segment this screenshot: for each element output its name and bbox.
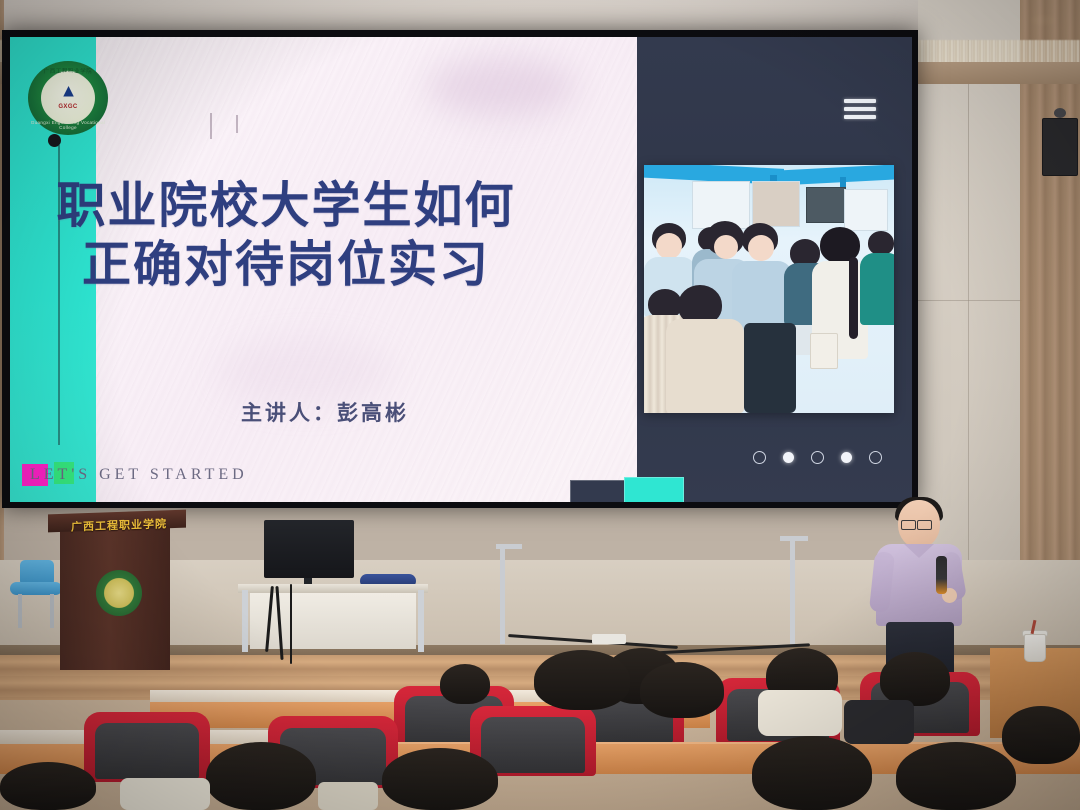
audience-person-front <box>896 742 1016 810</box>
quote-stroke-1 <box>210 113 212 139</box>
projection-screen-frame: 广西工程职业学院 ▲ GXGC Guangxi Engineering Voca… <box>2 30 918 508</box>
audience-clothing-4 <box>318 782 378 810</box>
person-hair <box>382 748 498 810</box>
mic-stand-top <box>496 544 522 549</box>
audience-clothing-2 <box>844 700 914 744</box>
logo-abbr: GXGC <box>28 104 108 110</box>
photo-board-3 <box>806 187 846 223</box>
photo-face-3 <box>714 235 738 259</box>
photo-body-9 <box>666 319 744 413</box>
speaker-knob <box>1054 108 1066 118</box>
person-hair <box>0 762 96 810</box>
audience-person-front <box>206 742 316 810</box>
lecture-hall-scene: 广西工程职业学院 ▲ GXGC Guangxi Engineering Voca… <box>0 0 1080 810</box>
person-hair <box>896 742 1016 810</box>
slide-title-line-1: 职业院校大学生如何 <box>16 177 556 236</box>
chair-leg-2 <box>50 594 54 628</box>
audience-clothing <box>758 690 842 736</box>
projected-slide: 广西工程职业学院 ▲ GXGC Guangxi Engineering Voca… <box>10 37 912 502</box>
glasses-right-lens-icon <box>917 520 932 530</box>
photo-face-4 <box>748 235 774 261</box>
slide-title-line-2: 正确对待岗位实习 <box>16 236 556 295</box>
person-hair <box>880 652 950 706</box>
wall-speaker <box>1042 118 1078 176</box>
floor-box <box>592 634 626 644</box>
stand-right-top <box>780 536 808 541</box>
photo-face-1 <box>656 233 682 259</box>
podium-emblem <box>96 570 142 616</box>
audience-person <box>880 652 950 706</box>
audience-person-front <box>640 662 724 718</box>
person-hair <box>534 650 630 710</box>
monitor <box>264 520 354 578</box>
carousel-dot-5[interactable] <box>869 451 882 464</box>
desk-modesty-panel <box>250 593 416 649</box>
college-logo: 广西工程职业学院 ▲ GXGC Guangxi Engineering Voca… <box>28 61 108 135</box>
desk-leg-2 <box>418 590 424 652</box>
seat-cushion <box>95 723 198 779</box>
photo-head-7 <box>868 231 894 255</box>
slide-footer-text: LET'S GET STARTED <box>30 466 248 484</box>
photo-braid <box>849 257 858 339</box>
carousel-dot-4[interactable] <box>841 452 852 463</box>
audience-seat <box>84 712 210 782</box>
audience-person-front <box>382 748 498 810</box>
photo-body-10 <box>744 323 796 413</box>
carousel-dot-1[interactable] <box>753 451 766 464</box>
person-hair <box>640 662 724 718</box>
slide-swatch-cyan <box>624 477 684 502</box>
slide-swatch-dark <box>570 480 632 502</box>
photo-body-7 <box>860 253 894 325</box>
carousel-dots[interactable] <box>753 451 882 464</box>
logo-name-en: Guangxi Engineering Vocational College <box>28 120 108 130</box>
person-hair <box>440 664 490 704</box>
logo-mark-icon: ▲ <box>60 80 77 101</box>
glasses-left-lens-icon <box>901 520 916 530</box>
slide-speaker-label: 主讲人：彭高彬 <box>160 397 490 427</box>
carousel-dot-2[interactable] <box>783 452 794 463</box>
microphone <box>936 556 947 594</box>
audience-clothing-3 <box>120 778 210 810</box>
audience-person-front <box>752 736 872 810</box>
band-dot-3 <box>48 134 61 147</box>
quote-stroke-2 <box>236 115 238 133</box>
person-hair <box>752 736 872 810</box>
slide-title: 职业院校大学生如何 正确对待岗位实习 <box>16 177 556 295</box>
photo-board-2 <box>752 181 800 227</box>
stand-right <box>790 540 795 644</box>
hamburger-icon[interactable] <box>844 99 876 119</box>
paper-blotch <box>426 57 576 117</box>
audience-person-front <box>0 762 96 810</box>
slide-photo <box>644 165 894 413</box>
photo-tote-bag <box>810 333 838 369</box>
cable-3 <box>290 584 292 664</box>
presenter-desk <box>238 556 428 660</box>
audience-person-front <box>534 650 630 710</box>
person-hair <box>206 742 316 810</box>
desk-leg-1 <box>242 590 248 652</box>
carousel-dot-3[interactable] <box>811 451 824 464</box>
desk-top <box>238 584 428 593</box>
marble-seam-2 <box>918 300 1022 301</box>
audience-person-front <box>1002 706 1080 764</box>
audience-person <box>440 664 490 704</box>
person-hair <box>1002 706 1080 764</box>
drink-cup <box>1024 634 1046 662</box>
photo-board-4 <box>844 189 888 231</box>
mic-stand-left <box>500 548 505 644</box>
blue-chair <box>10 560 62 630</box>
chair-leg-1 <box>18 594 22 628</box>
